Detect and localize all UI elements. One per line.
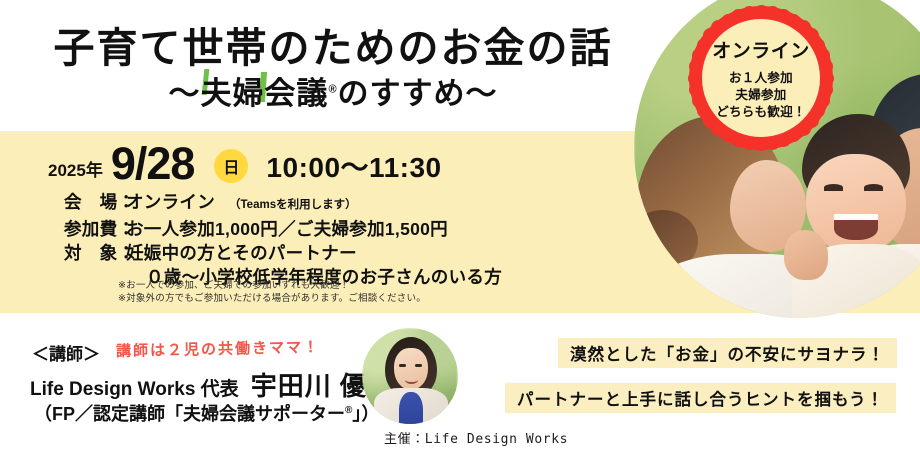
lecturer-avatar (362, 328, 458, 424)
avatar-eye-left (399, 364, 406, 367)
fineprint-line-1: ※お一人での参加、ご夫婦での参加いずれも大歓迎！ (118, 279, 426, 292)
detail-value-fee: お一人参加1,000円／ご夫婦参加1,500円 (126, 219, 448, 239)
detail-row-fee: 参加費：お一人参加1,000円／ご夫婦参加1,500円 (64, 217, 502, 241)
event-date-row: 2025年 9/28 日 10:00〜11:30 (48, 140, 442, 186)
photo-mother-hand (784, 230, 828, 280)
fufu-kaigi-logo: 夫婦会議 (200, 68, 328, 113)
lecturer-name-row: Life Design Works 代表 宇田川 優子 (30, 366, 394, 403)
registered-trademark-icon: ® (328, 84, 337, 96)
photo-baby-mouth (834, 214, 878, 240)
highlight-banner-1: 漠然とした「お金」の不安にサヨナラ！ (558, 338, 897, 368)
page-title: 子育て世帯のためのお金の話 (0, 14, 666, 74)
photo-baby-eye-left (824, 184, 843, 191)
avatar-eye-right (415, 364, 422, 367)
lecturer-credentials-prefix: （FP／認定講師「夫婦会議サポーター (34, 404, 345, 424)
organizer-label: 主催：Life Design Works (384, 428, 568, 447)
fineprint-line-2: ※対象外の方でもご参加いただける場合があります。ご相談ください。 (118, 292, 426, 305)
detail-label-venue: 会 場： (64, 190, 126, 214)
subtitle-prefix: 〜 (168, 76, 200, 111)
avatar-smile (405, 376, 418, 384)
weekday-badge: 日 (214, 149, 248, 183)
detail-row-venue: 会 場：オンライン（Teamsを利用します） (64, 190, 502, 217)
lecturer-credentials: （FP／認定講師「夫婦会議サポーター®」） (34, 400, 379, 426)
detail-label-audience: 対 象： (64, 241, 126, 265)
event-time: 10:00〜11:30 (266, 146, 441, 186)
event-year: 2025年 (48, 156, 103, 181)
detail-value-venue: オンライン (126, 192, 215, 212)
lecturer-organization: Life Design Works 代表 (30, 374, 239, 401)
online-badge: オンライン お１人参加 夫婦参加 どちらも歓迎！ (689, 6, 833, 150)
subtitle-suffix: のすすめ〜 (338, 76, 498, 111)
badge-line-1: お１人参加 (729, 70, 793, 87)
lecturer-handwritten-note: 講師は２児の共働きママ！ (116, 336, 320, 361)
highlight-banner-2: パートナーと上手に話し合うヒントを掴もう！ (505, 383, 896, 413)
badge-line-2: 夫婦参加 (735, 87, 786, 104)
avatar-inner-top (399, 392, 423, 424)
photo-baby-eye-right (864, 184, 883, 191)
lecturer-tag: ＜講師＞ (32, 340, 100, 365)
detail-value-audience: 妊娠中の方とそのパートナー (126, 243, 357, 263)
event-flyer: 子育て世帯のためのお金の話 〜夫婦会議®のすすめ〜 2025年 9/28 日 1… (0, 0, 920, 450)
event-details: 会 場：オンライン（Teamsを利用します） 参加費：お一人参加1,000円／ご… (64, 190, 502, 289)
fineprint-notes: ※お一人での参加、ご夫婦での参加いずれも大歓迎！ ※対象外の方でもご参加いただけ… (118, 279, 426, 305)
detail-row-audience: 対 象：妊娠中の方とそのパートナー (64, 241, 502, 265)
badge-line-3: どちらも歓迎！ (716, 104, 806, 121)
detail-label-fee: 参加費： (64, 217, 126, 241)
page-subtitle: 〜夫婦会議®のすすめ〜 (0, 68, 666, 113)
event-date: 9/28 (111, 141, 195, 186)
badge-title: オンライン (712, 36, 810, 63)
badge-inner: オンライン お１人参加 夫婦参加 どちらも歓迎！ (702, 19, 820, 137)
detail-note-venue: （Teamsを利用します） (229, 199, 357, 211)
fufu-kaigi-logo-text: 夫婦会議 (200, 76, 328, 111)
